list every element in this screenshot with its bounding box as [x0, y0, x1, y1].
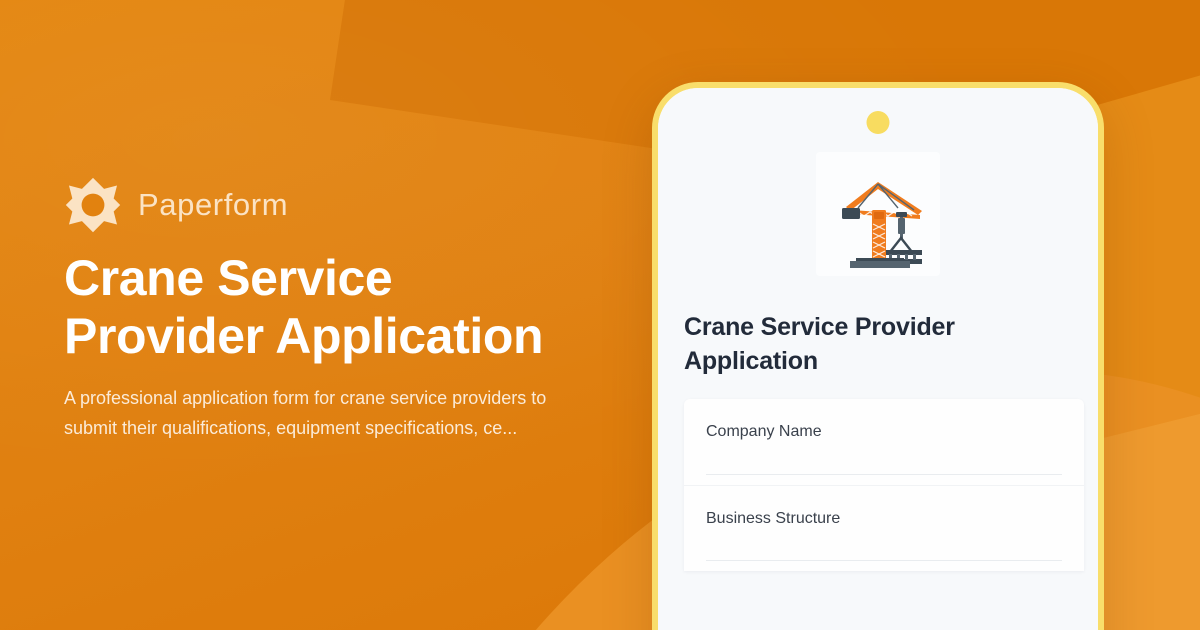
- form-field-business-structure[interactable]: Business Structure: [684, 485, 1084, 571]
- phone-mockup: Crane Service Provider Application Compa…: [652, 82, 1104, 630]
- hero-left-column: Paperform Crane Service Provider Applica…: [64, 0, 624, 630]
- brand-lockup: Paperform: [64, 176, 288, 234]
- form-field-company-name[interactable]: Company Name: [684, 399, 1084, 485]
- phone-screen: Crane Service Provider Application Compa…: [658, 88, 1098, 630]
- form-field-label: Company Name: [706, 421, 1062, 443]
- page-title: Crane Service Provider Application: [64, 249, 604, 365]
- brand-name: Paperform: [138, 187, 288, 223]
- form-field-input-underline[interactable]: [706, 474, 1062, 475]
- paperform-star-logo-icon: [64, 176, 122, 234]
- form-field-list: Company Name Business Structure: [684, 399, 1084, 571]
- form-field-input-underline[interactable]: [706, 560, 1062, 561]
- camera-dot-icon: [867, 111, 890, 134]
- og-share-card: Paperform Crane Service Provider Applica…: [0, 0, 1200, 630]
- form-title: Crane Service Provider Application: [684, 310, 1024, 378]
- page-description: A professional application form for cran…: [64, 383, 584, 443]
- tower-crane-illustration-icon: [816, 152, 940, 276]
- form-field-label: Business Structure: [706, 508, 1062, 530]
